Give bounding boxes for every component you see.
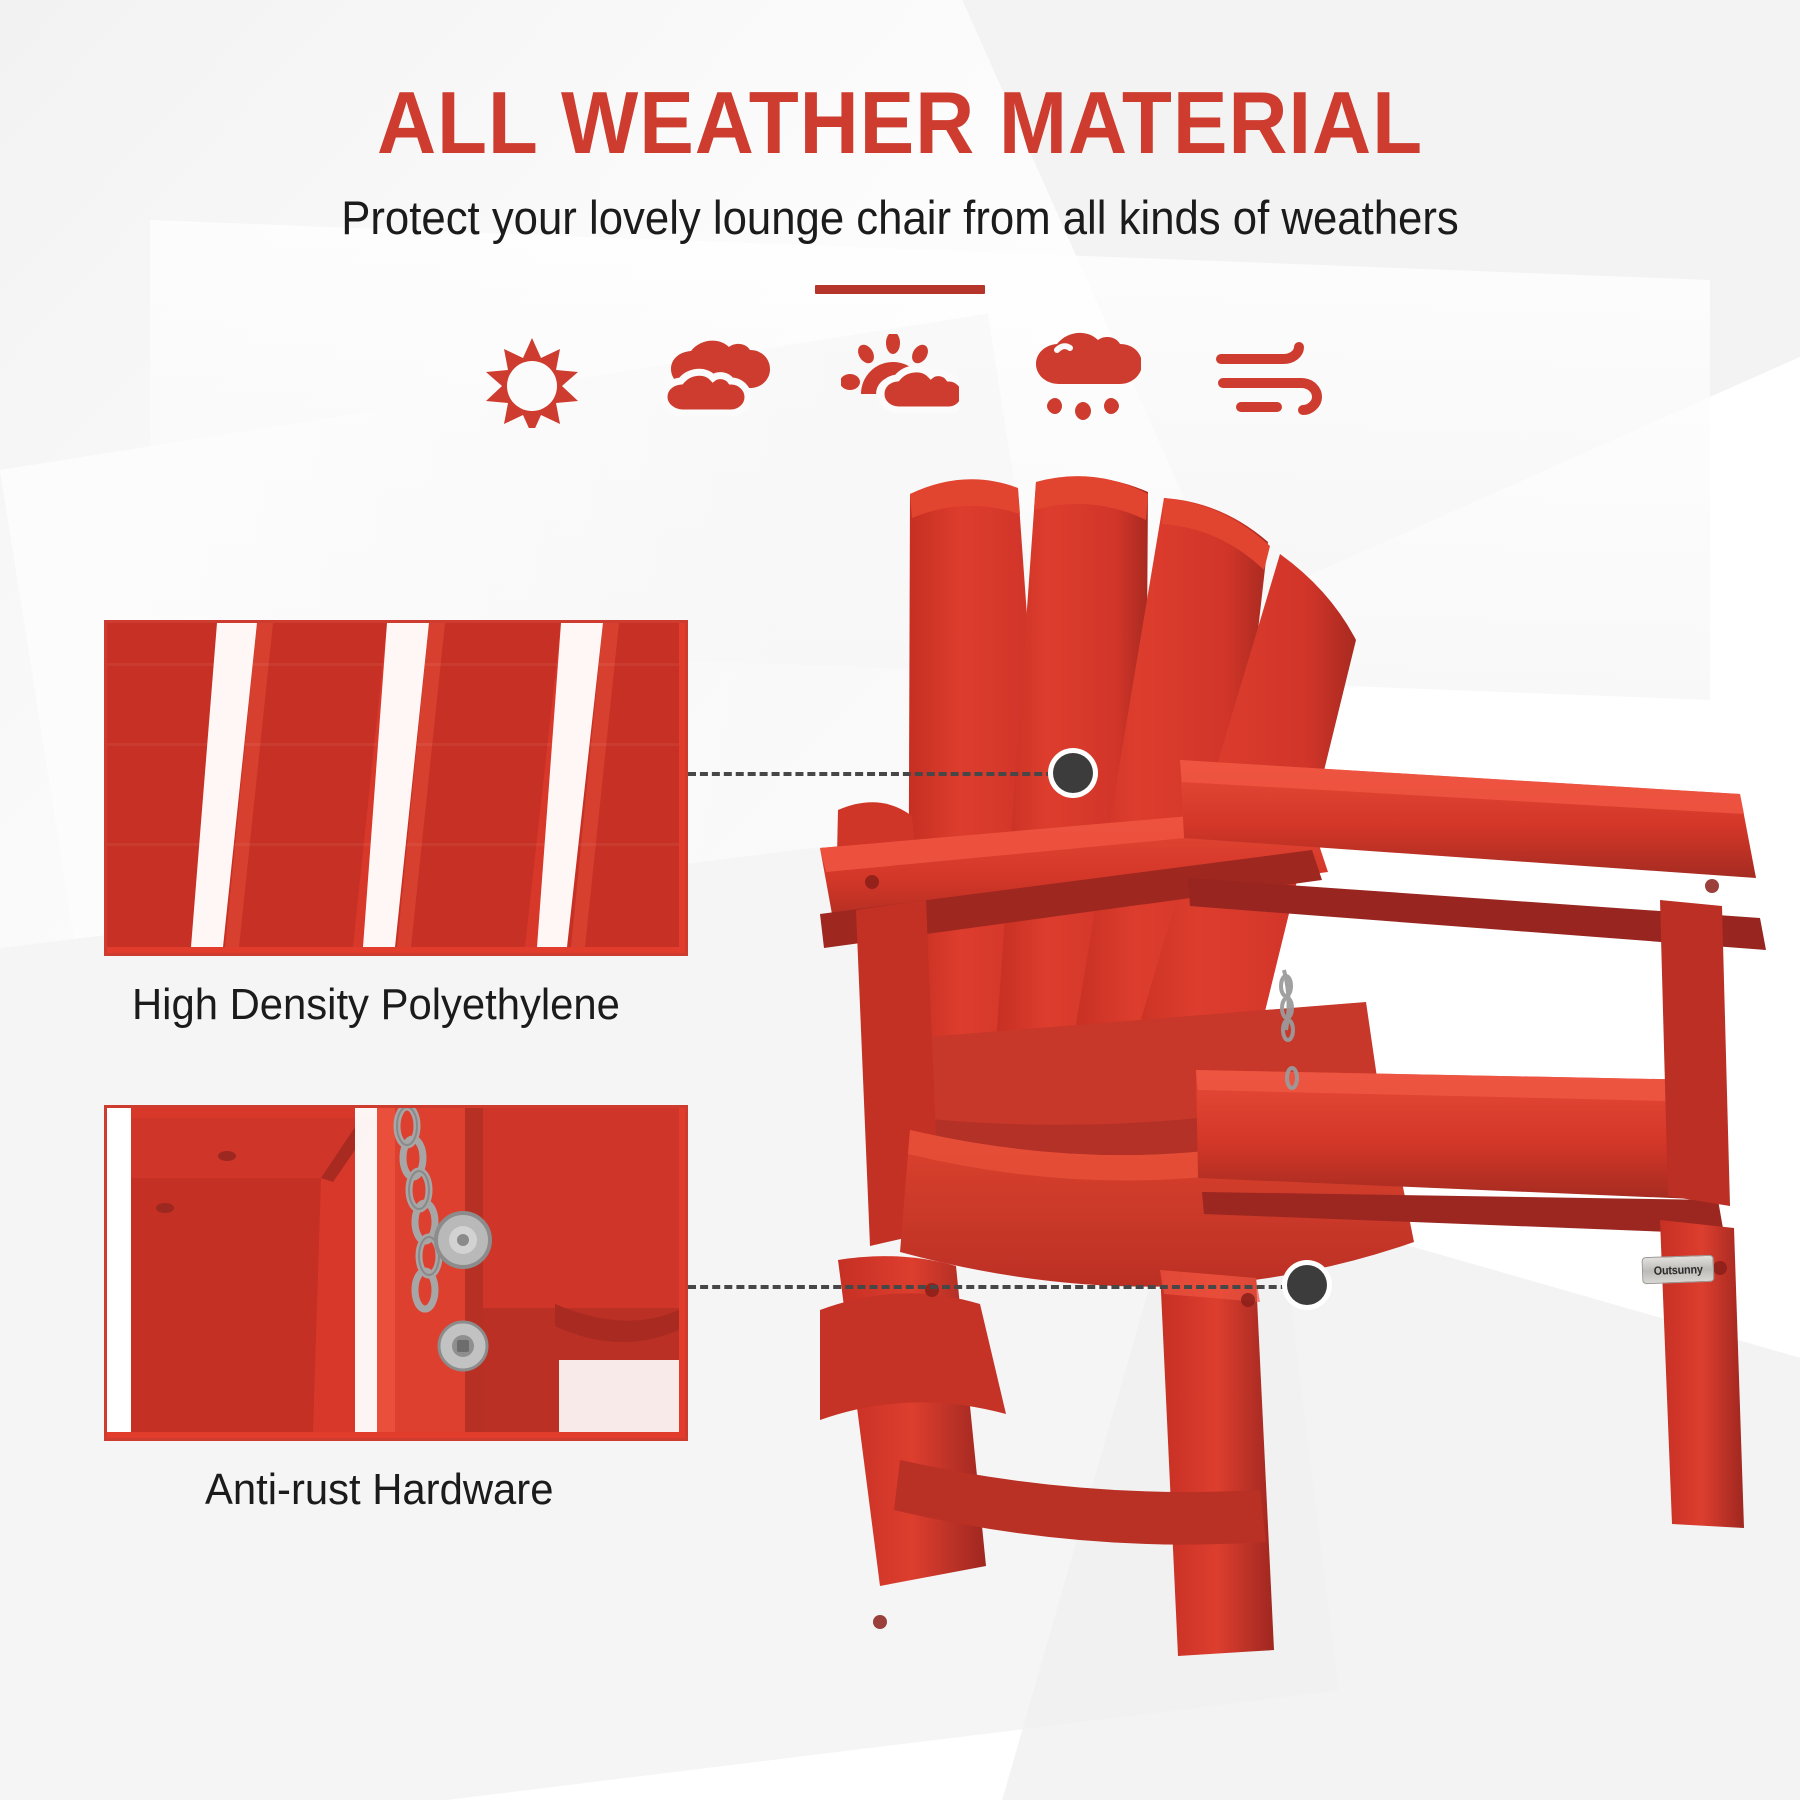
wind-icon [1208, 332, 1328, 428]
detail-panel-hardware [104, 1105, 688, 1441]
callout-dot-hardware [1287, 1265, 1327, 1305]
infographic-canvas: ALL WEATHER MATERIAL Protect your lovely… [0, 0, 1800, 1800]
detail-caption-hdpe: High Density Polyethylene [132, 980, 620, 1030]
rain-cloud-icon [1024, 332, 1144, 428]
partly-cloudy-icon [840, 332, 960, 428]
detail-panel-hdpe [104, 620, 688, 956]
leader-line-hardware [688, 1285, 1313, 1289]
page-title: ALL WEATHER MATERIAL [63, 0, 1737, 168]
detail-caption-hardware: Anti-rust Hardware [205, 1465, 553, 1515]
page-subtitle: Protect your lovely lounge chair from al… [63, 168, 1737, 244]
brand-badge: Outsunny [1642, 1255, 1715, 1284]
product-photo-adirondack-chair [760, 430, 1800, 1720]
cloudy-icon [656, 332, 776, 428]
weather-icon-row [0, 332, 1800, 428]
sun-icon [472, 332, 592, 428]
brand-badge-label: Outsunny [1653, 1262, 1702, 1278]
header-divider [815, 285, 985, 294]
header: ALL WEATHER MATERIAL Protect your lovely… [0, 0, 1800, 294]
callout-dot-hdpe [1053, 753, 1093, 793]
leader-line-hdpe [688, 772, 1078, 776]
